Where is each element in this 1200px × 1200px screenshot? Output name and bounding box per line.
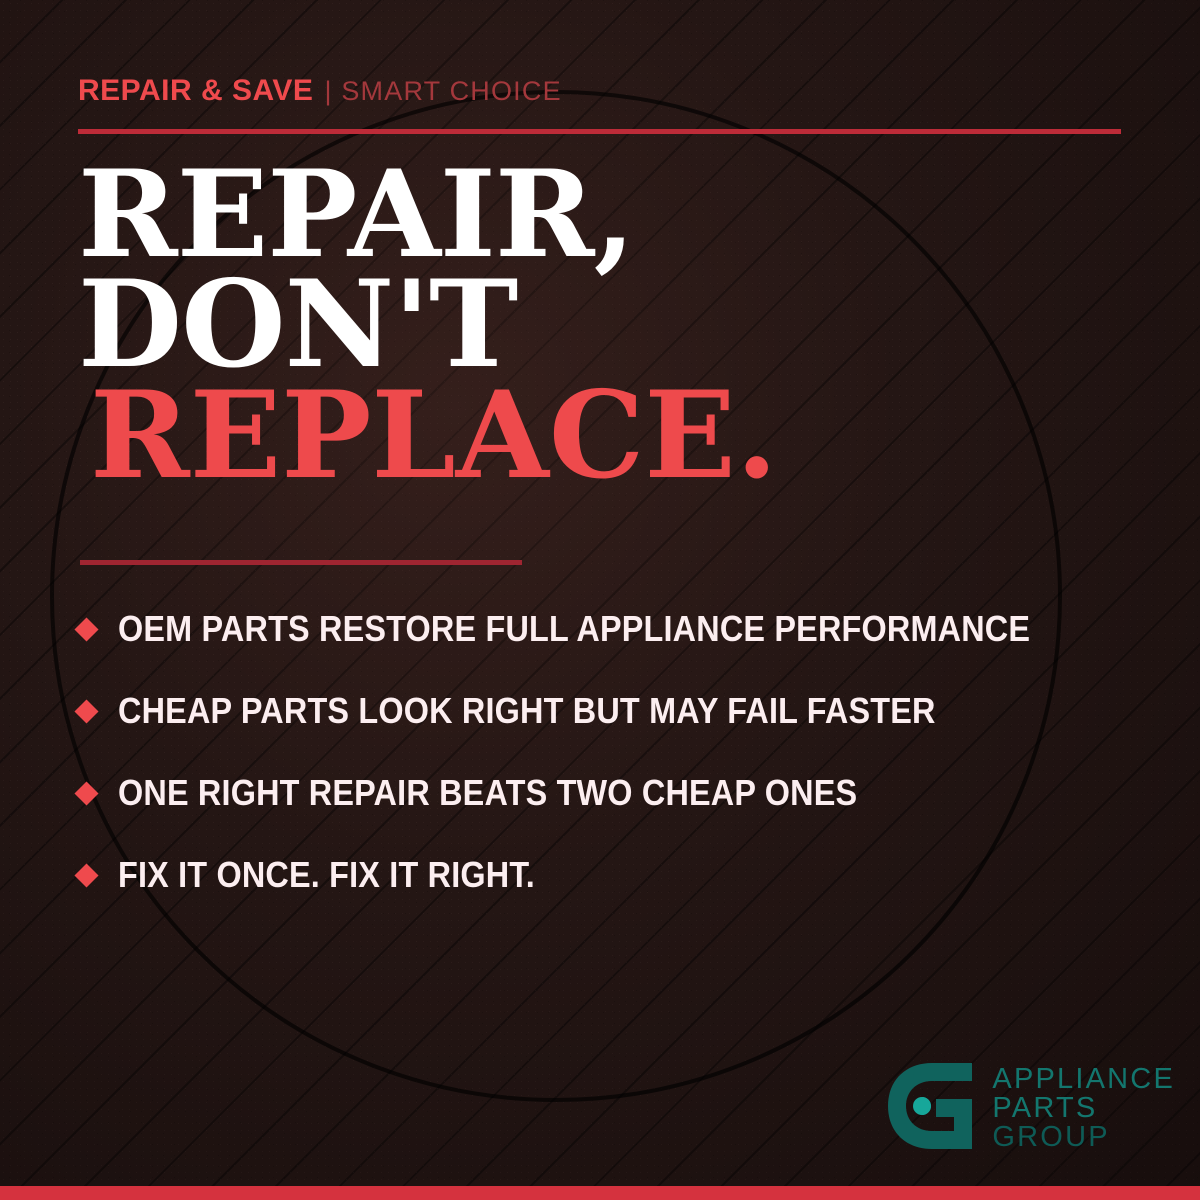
logo-line-group: GROUP — [992, 1123, 1175, 1152]
eyebrow-header: REPAIR & SAVE | SMART CHOICE — [78, 74, 562, 108]
list-item-label: FIX IT ONCE. FIX IT RIGHT. — [118, 854, 535, 896]
logo-line-appliance: APPLIANCE — [992, 1065, 1175, 1094]
list-item: ONE RIGHT REPAIR BEATS TWO CHEAP ONES — [78, 752, 1158, 834]
diamond-bullet-icon — [74, 617, 98, 641]
eyebrow-main-label: REPAIR & SAVE — [78, 74, 313, 108]
logo-wordmark: APPLIANCE PARTS GROUP — [992, 1065, 1175, 1151]
list-item-label: ONE RIGHT REPAIR BEATS TWO CHEAP ONES — [118, 772, 857, 814]
list-item-label: OEM PARTS RESTORE FULL APPLIANCE PERFORM… — [118, 608, 1030, 650]
diamond-bullet-icon — [74, 863, 98, 887]
brand-logo: APPLIANCE PARTS GROUP — [886, 1063, 1175, 1154]
logo-g-mark-icon — [886, 1063, 978, 1154]
diamond-bullet-icon — [74, 781, 98, 805]
list-item-label: CHEAP PARTS LOOK RIGHT BUT MAY FAIL FAST… — [118, 690, 936, 732]
logo-line-parts: PARTS — [992, 1094, 1175, 1123]
headline-line-3: REPLACE. — [78, 381, 778, 491]
list-item: FIX IT ONCE. FIX IT RIGHT. — [78, 834, 1158, 916]
eyebrow-sub-label: | SMART CHOICE — [324, 76, 561, 107]
page-title: REPAIR, DON'T REPLACE. — [78, 160, 778, 491]
poster-canvas: REPAIR & SAVE | SMART CHOICE REPAIR, DON… — [0, 0, 1200, 1200]
header-divider-rule — [78, 129, 1121, 134]
accent-divider-rule — [80, 560, 522, 565]
benefits-list: OEM PARTS RESTORE FULL APPLIANCE PERFORM… — [78, 588, 1158, 916]
list-item: OEM PARTS RESTORE FULL APPLIANCE PERFORM… — [78, 588, 1158, 670]
list-item: CHEAP PARTS LOOK RIGHT BUT MAY FAIL FAST… — [78, 670, 1158, 752]
bottom-accent-bar — [0, 1186, 1200, 1200]
diamond-bullet-icon — [74, 699, 98, 723]
